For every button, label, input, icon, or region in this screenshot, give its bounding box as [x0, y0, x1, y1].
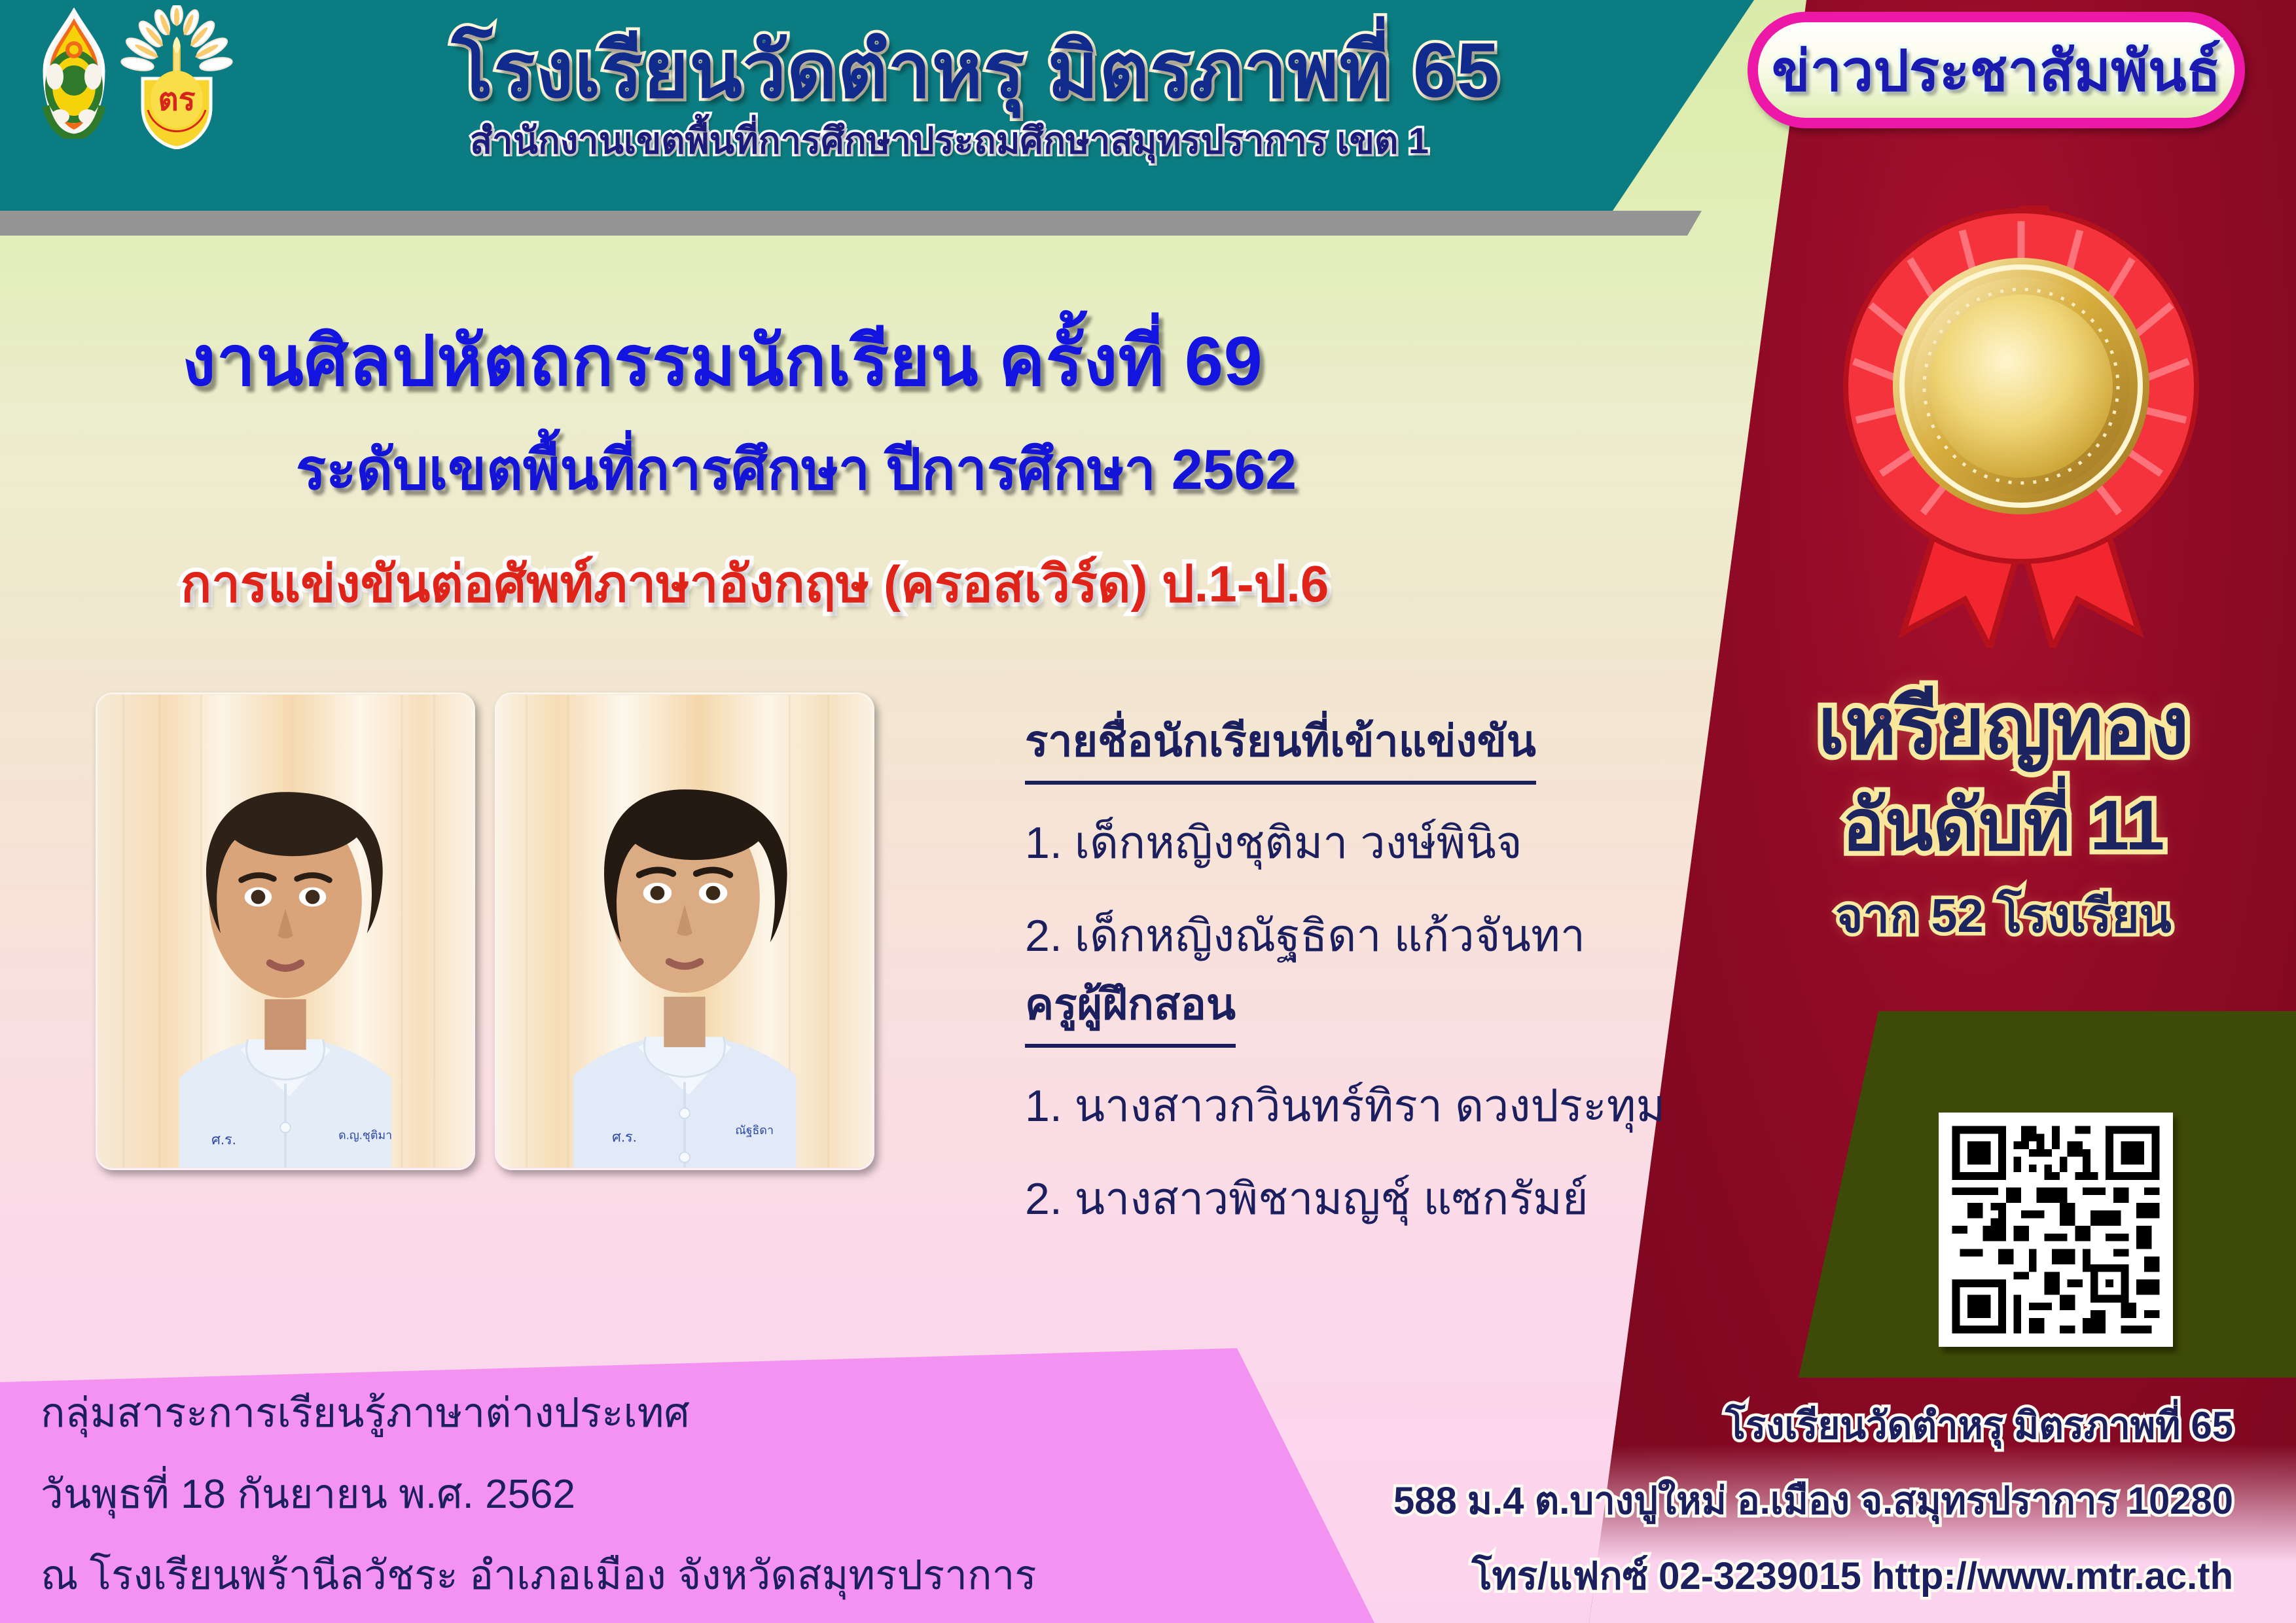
school-seal-icon: ตร [111, 5, 242, 149]
svg-text:ศ.ร.: ศ.ร. [612, 1129, 637, 1145]
list-item: 1. นางสาวกวินทร์ทิรา ดวงประทุม [1025, 1070, 1665, 1141]
header-grey-underline [0, 211, 1702, 236]
pr-news-badge: ข่าวประชาสัมพันธ์ [1748, 12, 2245, 128]
pr-news-badge-label: ข่าวประชาสัมพันธ์ [1772, 26, 2221, 115]
footer-contact: โทร/แฟกซ์ 02-3239015 http://www.mtr.ac.t… [1393, 1545, 2233, 1606]
footer-subject-group: กลุ่มสาระการเรียนรู้ภาษาต่างประเทศ [41, 1381, 1037, 1445]
list-item: 2. เด็กหญิงณัฐธิดา แก้วจันทา [1025, 900, 1585, 971]
competition-category-title: การแข่งขันต่อศัพท์ภาษาอังกฤษ (ครอสเวิร์ด… [181, 543, 1329, 624]
award-rosette-icon [1818, 190, 2224, 648]
footer-address: 588 ม.4 ต.บางปูใหม่ อ.เมือง จ.สมุทรปรากา… [1393, 1470, 2233, 1531]
student-photo-2: ศ.ร. ณัฐธิดา [495, 692, 874, 1170]
svg-text:ตร: ตร [158, 82, 196, 117]
svg-text:ศ.ร.: ศ.ร. [211, 1132, 236, 1148]
footer-school-name: โรงเรียนวัดตำหรุ มิตรภาพที่ 65 [1393, 1395, 2233, 1455]
list-item: 2. นางสาวพิชามญชุ์ แซกรัมย์ [1025, 1163, 1665, 1234]
svg-text:ด.ญ.ชุติมา: ด.ญ.ชุติมา [338, 1129, 392, 1143]
footer-venue: ณ โรงเรียนพร้านีลวัชระ อำเภอเมือง จังหวั… [41, 1543, 1037, 1607]
footer-school-contact: โรงเรียนวัดตำหรุ มิตรภาพที่ 65 588 ม.4 ต… [1393, 1380, 2233, 1606]
award-rank-label: อันดับที่ 11 [1738, 783, 2269, 868]
award-medal-label: เหรียญทอง [1738, 681, 2269, 774]
student-roster-heading: รายชื่อนักเรียนที่เข้าแข่งขัน [1025, 707, 1536, 785]
award-total-schools-label: จาก 52 โรงเรียน [1738, 878, 2269, 953]
student-roster: รายชื่อนักเรียนที่เข้าแข่งขัน 1. เด็กหญิ… [1025, 707, 1585, 971]
list-item: 1. เด็กหญิงชุติมา วงษ์พินิจ [1025, 807, 1585, 878]
svg-text:ณัฐธิดา: ณัฐธิดา [735, 1124, 774, 1137]
teacher-roster-heading: ครูผู้ฝึกสอน [1025, 970, 1236, 1048]
competition-event-title: งานศิลปหัตถกรรมนักเรียน ครั้งที่ 69 [182, 305, 1263, 416]
qr-code[interactable] [1939, 1113, 2173, 1347]
student-photo-1: ศ.ร. ด.ญ.ชุติมา [96, 692, 475, 1170]
competition-level-title: ระดับเขตพื้นที่การศึกษา ปีการศึกษา 2562 [296, 424, 1297, 514]
poster-root: ตร โรงเรียนวัดตำหรุ มิตรภาพที่ 65 สำนักง… [0, 0, 2296, 1623]
page-subtitle: สำนักงานเขตพื้นที่การศึกษาประถมศึกษาสมุท… [470, 111, 1429, 169]
footer-date: วันพุธที่ 18 กันยายน พ.ศ. 2562 [41, 1462, 1037, 1526]
award-result-block: เหรียญทอง อันดับที่ 11 จาก 52 โรงเรียน [1738, 681, 2269, 953]
teacher-roster: ครูผู้ฝึกสอน 1. นางสาวกวินทร์ทิรา ดวงประ… [1025, 970, 1665, 1234]
footer-event-details: กลุ่มสาระการเรียนรู้ภาษาต่างประเทศ วันพุ… [41, 1364, 1037, 1607]
